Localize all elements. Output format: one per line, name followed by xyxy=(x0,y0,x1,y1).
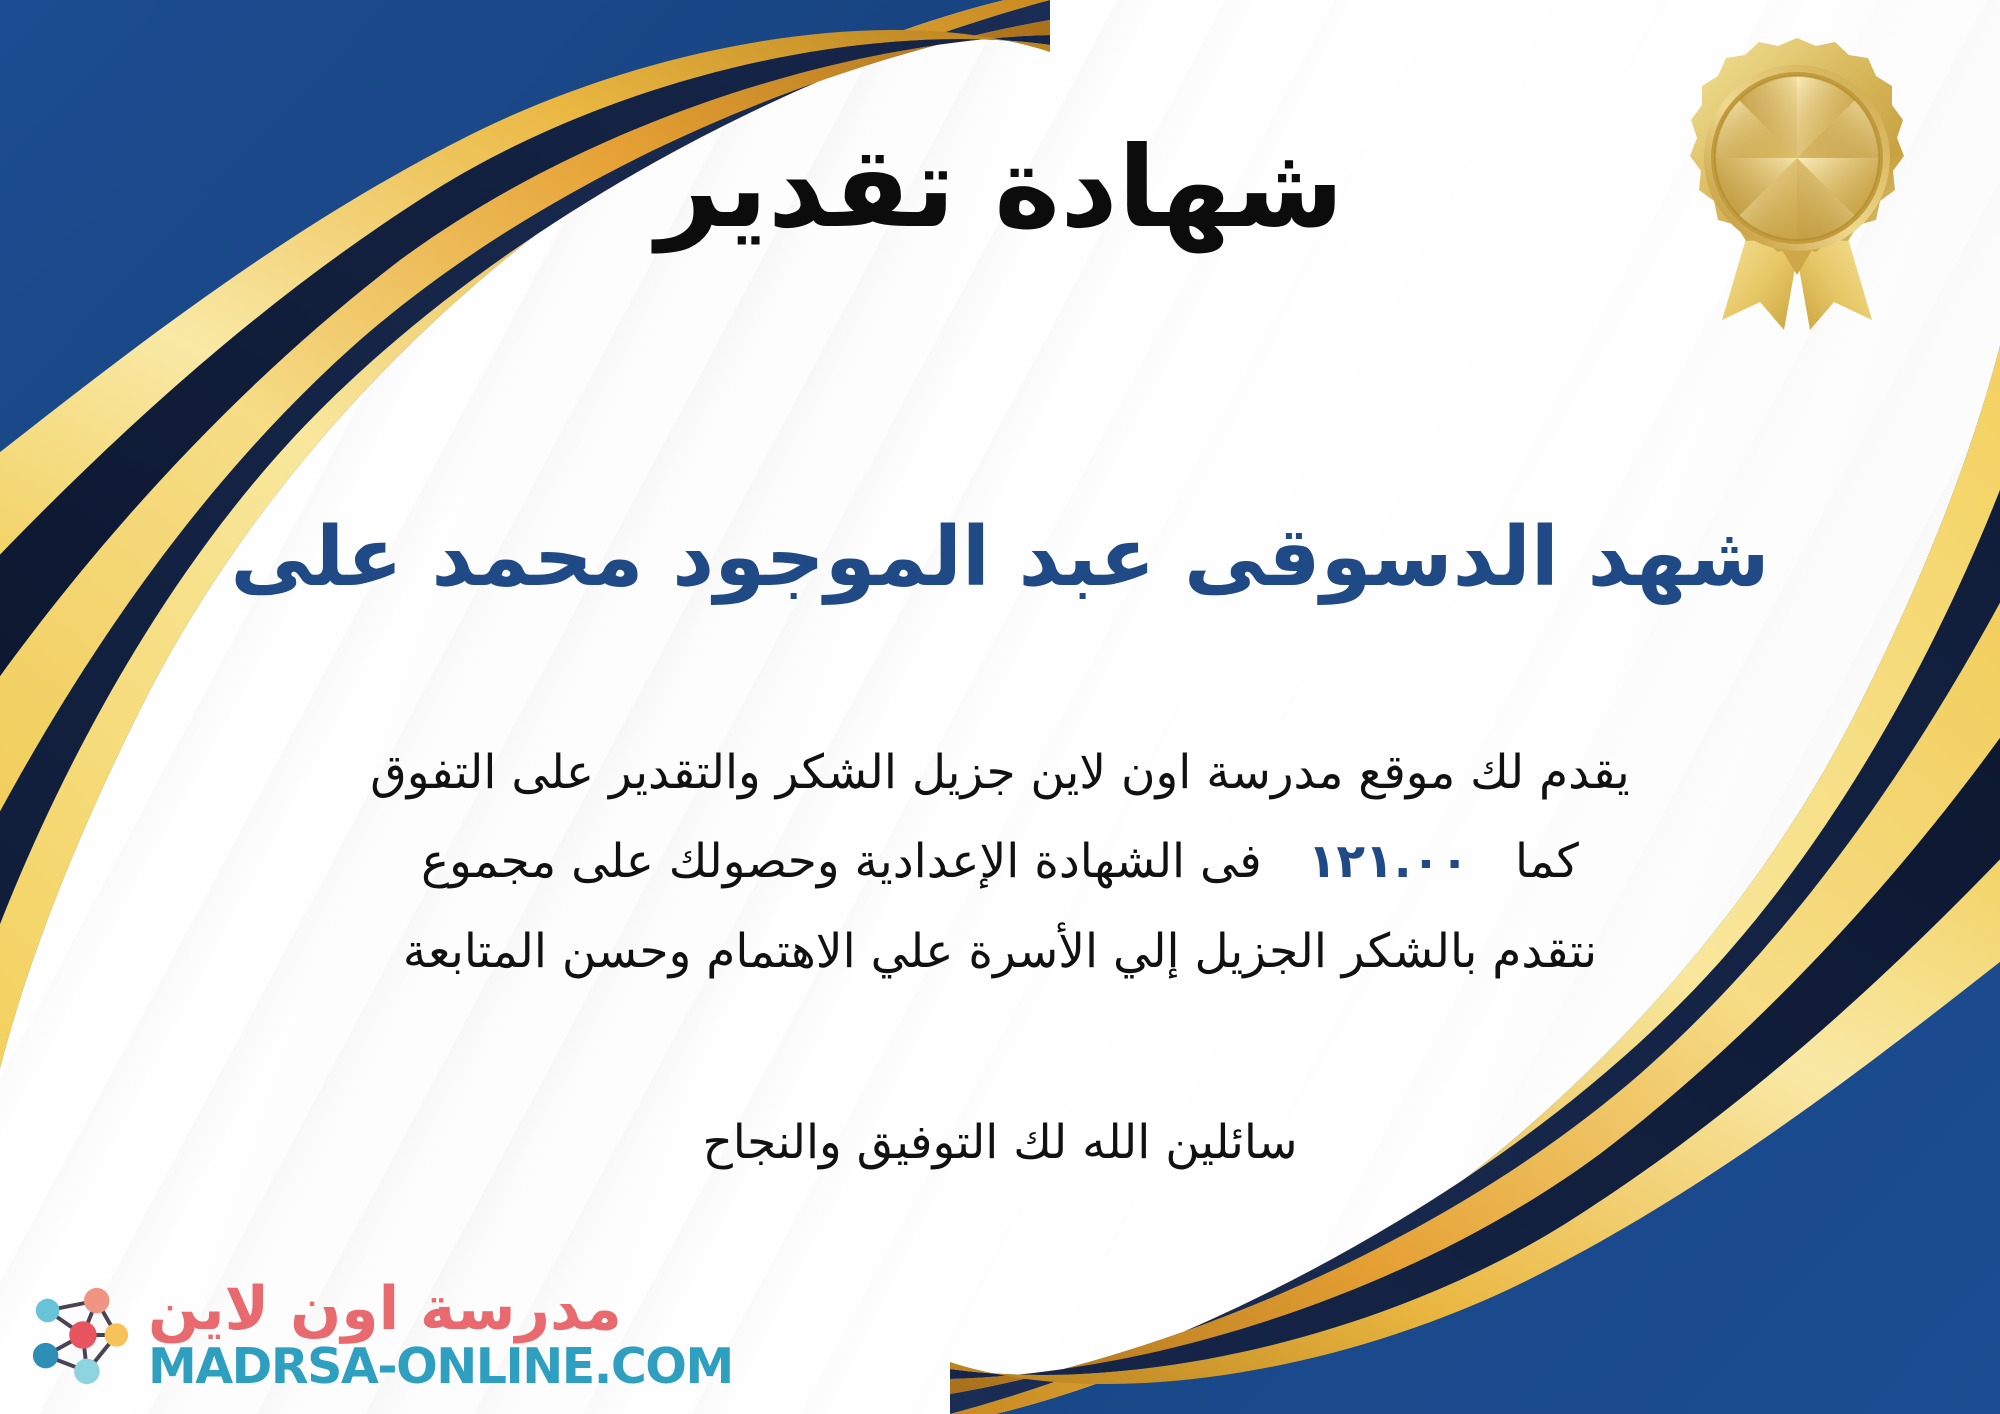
body-line-3: نتقدم بالشكر الجزيل إلي الأسرة علي الاهت… xyxy=(70,907,1930,996)
certificate-body: يقدم لك موقع مدرسة اون لاين جزيل الشكر و… xyxy=(70,728,1930,996)
brand-logo[interactable]: مدرسة اون لاين MADRSA-ONLINE.COM xyxy=(26,1279,733,1392)
brand-arabic-name: مدرسة اون لاين xyxy=(148,1279,622,1339)
score-value: ١٢١.٠٠ xyxy=(1262,834,1515,889)
certificate-page: شهادة تقدير شهد الدسوقى عبد الموجود محمد… xyxy=(0,0,2000,1414)
recipient-name: شهد الدسوقى عبد الموجود محمد على xyxy=(60,505,1940,612)
body-line-2-suffix: فى الشهادة الإعدادية وحصولك على مجموع xyxy=(421,834,1262,889)
brand-website: MADRSA-ONLINE.COM xyxy=(148,1341,733,1392)
body-line-2-prefix: كما xyxy=(1515,834,1579,889)
body-line-2: كما١٢١.٠٠فى الشهادة الإعدادية وحصولك على… xyxy=(70,817,1930,906)
network-nodes-icon xyxy=(26,1281,134,1389)
closing-line: سائلين الله لك التوفيق والنجاح xyxy=(0,1108,2000,1179)
award-medal-icon xyxy=(1672,30,1922,330)
body-line-1: يقدم لك موقع مدرسة اون لاين جزيل الشكر و… xyxy=(70,728,1930,817)
brand-text: مدرسة اون لاين MADRSA-ONLINE.COM xyxy=(148,1279,733,1392)
